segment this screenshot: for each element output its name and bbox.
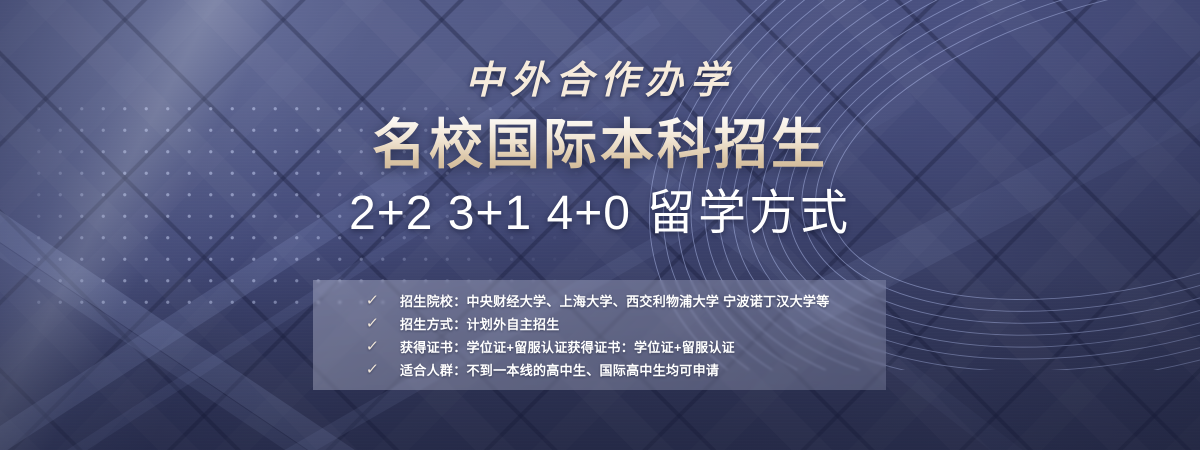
list-item: ✓ 获得证书：学位证+留服认证获得证书：学位证+留服认证: [313, 335, 886, 358]
headline-subtitle: 2+2 3+1 4+0留学方式: [0, 174, 1200, 241]
list-item-label: 适合人群：不到一本线的高中生、国际高中生均可申请: [400, 360, 719, 379]
check-icon: ✓: [365, 293, 401, 308]
check-icon: ✓: [365, 316, 401, 331]
headline-main-title: 名校国际本科招生: [0, 100, 1200, 174]
list-item: ✓ 招生方式：计划外自主招生: [313, 312, 886, 335]
education-promo-banner: 中外合作办学 名校国际本科招生 2+2 3+1 4+0留学方式 ✓ 招生院校：中…: [0, 0, 1200, 450]
list-item: ✓ 适合人群：不到一本线的高中生、国际高中生均可申请: [313, 358, 886, 381]
list-item-label: 获得证书：学位证+留服认证获得证书：学位证+留服认证: [400, 337, 735, 356]
check-icon: ✓: [365, 339, 401, 354]
check-icon: ✓: [365, 362, 401, 377]
headline-group: 中外合作办学 名校国际本科招生 2+2 3+1 4+0留学方式: [0, 0, 1200, 241]
feature-list-panel: ✓ 招生院校：中央财经大学、上海大学、西交利物浦大学 宁波诺丁汉大学等 ✓ 招生…: [313, 280, 886, 390]
study-abroad-label: 留学方式: [647, 187, 851, 240]
list-item-label: 招生院校：中央财经大学、上海大学、西交利物浦大学 宁波诺丁汉大学等: [400, 291, 830, 310]
list-item-label: 招生方式：计划外自主招生: [400, 314, 560, 333]
study-mode-list: 2+2 3+1 4+0: [349, 187, 631, 240]
list-item: ✓ 招生院校：中央财经大学、上海大学、西交利物浦大学 宁波诺丁汉大学等: [313, 289, 886, 312]
headline-script-title: 中外合作办学: [0, 0, 1200, 100]
